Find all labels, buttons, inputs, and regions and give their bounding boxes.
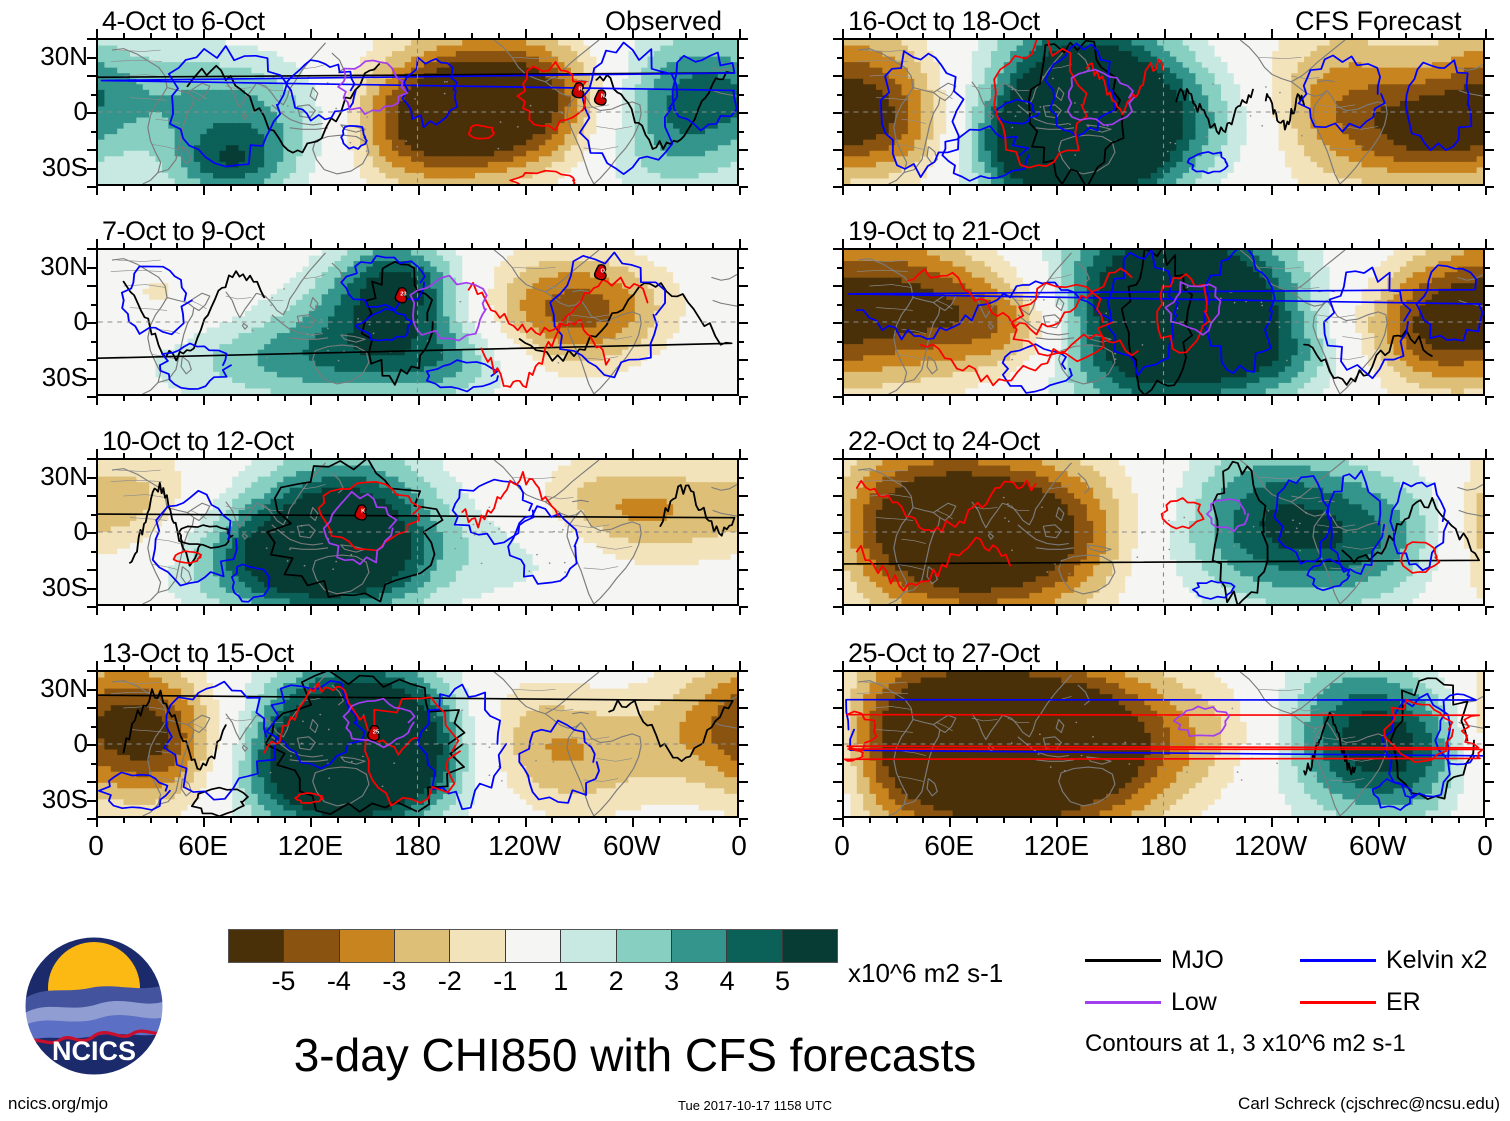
y-axis-tick-minor <box>91 514 96 516</box>
y-axis-label: 0 <box>4 96 88 127</box>
x-axis-tick <box>712 665 714 670</box>
x-axis-tick <box>1003 396 1005 401</box>
x-axis-tick <box>842 661 844 670</box>
x-axis-labels: 060E120E180120W60W0 <box>842 830 1485 864</box>
x-axis-tick <box>685 243 687 248</box>
x-axis-tick <box>949 606 951 615</box>
x-axis-tick <box>842 186 844 195</box>
x-axis-tick <box>123 665 125 670</box>
y-axis-tick-minor <box>1485 186 1494 188</box>
x-axis-tick <box>310 239 312 248</box>
x-axis-label: 60E <box>924 830 974 862</box>
x-axis-tick <box>869 243 871 248</box>
x-axis-tick <box>1217 396 1219 401</box>
map-panel[interactable] <box>842 458 1485 606</box>
x-axis-tick <box>1431 665 1433 670</box>
x-axis-tick <box>551 665 553 670</box>
y-axis-tick-minor <box>739 248 748 250</box>
map-field: K <box>98 460 737 604</box>
x-axis-tick <box>1137 818 1139 823</box>
x-axis-tick <box>150 606 152 611</box>
x-axis-tick <box>659 396 661 401</box>
x-axis-tick <box>1164 186 1166 195</box>
x-axis-tick <box>739 661 741 670</box>
x-axis-tick <box>337 33 339 38</box>
x-axis-tick <box>471 818 473 823</box>
x-axis-tick <box>525 186 527 195</box>
x-axis-tick <box>444 243 446 248</box>
x-axis-tick <box>150 665 152 670</box>
x-axis-tick <box>1110 818 1112 823</box>
x-axis-tick <box>1190 186 1192 191</box>
y-axis-label: 0 <box>4 516 88 547</box>
x-axis-tick <box>605 818 607 823</box>
x-axis-tick <box>310 396 312 405</box>
x-axis-tick <box>869 606 871 611</box>
x-axis-tick <box>976 818 978 823</box>
x-axis-tick <box>976 186 978 191</box>
x-axis-tick <box>551 243 553 248</box>
x-axis-tick <box>896 396 898 401</box>
colorbar-tick-label: 3 <box>664 966 679 997</box>
x-axis-tick <box>471 606 473 611</box>
x-axis-tick <box>1405 396 1407 401</box>
colorbar-tick-label: -2 <box>438 966 462 997</box>
y-axis-tick-minor <box>833 75 842 77</box>
x-axis-tick <box>257 33 259 38</box>
y-axis-tick-minor <box>1485 359 1494 361</box>
x-axis-tick <box>1431 453 1433 458</box>
x-axis-tick <box>1405 186 1407 191</box>
y-axis-label: 30N <box>4 673 88 704</box>
x-axis-tick <box>1030 243 1032 248</box>
x-axis-tick <box>176 243 178 248</box>
x-axis-tick <box>869 33 871 38</box>
x-axis-tick <box>150 453 152 458</box>
y-axis-tick-minor <box>833 248 842 250</box>
x-axis-tick <box>1164 606 1166 615</box>
y-axis-tick-minor <box>833 606 842 608</box>
x-axis-tick <box>230 243 232 248</box>
map-panel[interactable]: RN <box>96 38 739 186</box>
x-axis-label: 60W <box>603 830 661 862</box>
x-axis-tick <box>1056 396 1058 405</box>
y-axis-tick-minor <box>739 112 748 114</box>
x-axis-tick <box>391 243 393 248</box>
x-axis-tick <box>471 396 473 401</box>
map-panel[interactable]: 25 <box>96 670 739 818</box>
x-axis-tick <box>525 661 527 670</box>
x-axis-label: 0 <box>834 830 850 862</box>
y-axis-tick-minor <box>1485 131 1490 133</box>
x-axis-tick <box>976 606 978 611</box>
y-axis-tick-minor <box>739 267 744 269</box>
y-axis-tick-minor <box>837 267 842 269</box>
x-axis-tick <box>123 33 125 38</box>
y-axis-label: 30N <box>4 41 88 72</box>
x-axis-tick <box>96 449 98 458</box>
x-axis-tick <box>1297 818 1299 823</box>
x-axis-tick <box>498 606 500 611</box>
x-axis-tick <box>869 186 871 191</box>
x-axis-tick <box>1485 449 1487 458</box>
y-axis-tick-minor <box>1485 606 1494 608</box>
y-axis-tick-minor <box>87 569 96 571</box>
map-panel[interactable] <box>842 38 1485 186</box>
x-axis-tick <box>418 449 420 458</box>
y-axis-tick-minor <box>833 322 842 324</box>
y-axis-tick-minor <box>1485 378 1490 380</box>
x-axis-labels: 060E120E180120W60W0 <box>96 830 739 864</box>
y-axis-tick-minor <box>1485 94 1490 96</box>
y-axis-tick-minor <box>1485 670 1494 672</box>
y-axis-tick-minor <box>837 168 842 170</box>
x-axis-tick <box>976 33 978 38</box>
x-axis-tick <box>418 186 420 195</box>
legend-item-low: Low <box>1085 988 1217 1017</box>
legend-line-swatch <box>1300 959 1376 962</box>
x-axis-tick <box>1217 453 1219 458</box>
x-axis-tick <box>659 453 661 458</box>
x-axis-tick <box>896 453 898 458</box>
x-axis-tick <box>739 449 741 458</box>
x-axis-tick <box>150 818 152 823</box>
x-axis-tick <box>284 243 286 248</box>
x-axis-tick <box>310 818 312 827</box>
y-axis-tick-minor <box>739 588 744 590</box>
x-axis-tick <box>842 449 844 458</box>
x-axis-tick <box>1405 33 1407 38</box>
x-axis-tick <box>310 29 312 38</box>
x-axis-tick <box>444 396 446 401</box>
x-axis-label: 0 <box>88 830 104 862</box>
y-axis-tick-minor <box>739 186 748 188</box>
map-panel[interactable]: 23O <box>96 248 739 396</box>
y-axis-tick-minor <box>91 304 96 306</box>
x-axis-tick <box>632 186 634 195</box>
y-axis-tick-minor <box>739 57 744 59</box>
y-axis-tick-minor <box>91 551 96 553</box>
x-axis-tick <box>1458 33 1460 38</box>
colorbar-swatch <box>617 930 672 962</box>
x-axis-tick <box>337 453 339 458</box>
x-axis-tick <box>1485 239 1487 248</box>
colorbar-tick-label: 4 <box>720 966 735 997</box>
x-axis-tick <box>96 396 98 405</box>
x-axis-tick <box>659 818 661 823</box>
x-axis-tick <box>284 818 286 823</box>
y-axis-tick-minor <box>1485 514 1490 516</box>
y-axis-tick-minor <box>739 168 744 170</box>
x-axis-tick <box>685 606 687 611</box>
x-axis-tick <box>949 449 951 458</box>
x-axis-tick <box>1351 453 1353 458</box>
colorbar-tick-label: -3 <box>382 966 406 997</box>
y-axis-tick-minor <box>1485 689 1490 691</box>
x-axis-tick <box>203 818 205 827</box>
contour-note: Contours at 1, 3 x10^6 m2 s-1 <box>1085 1030 1406 1058</box>
x-axis-tick <box>123 243 125 248</box>
y-axis-tick-minor <box>87 495 96 497</box>
x-axis-tick <box>1056 186 1058 195</box>
x-axis-tick <box>391 33 393 38</box>
y-axis-tick-minor <box>1485 726 1490 728</box>
y-axis-tick-minor <box>739 800 744 802</box>
x-axis-tick <box>1431 606 1433 611</box>
y-axis-tick-minor <box>739 689 744 691</box>
x-axis-tick <box>949 29 951 38</box>
x-axis-tick <box>922 606 924 611</box>
x-axis-tick <box>444 606 446 611</box>
y-axis-tick-minor <box>91 800 96 802</box>
y-axis-tick-minor <box>1485 322 1494 324</box>
x-axis-tick <box>1458 818 1460 823</box>
x-axis-tick <box>1378 661 1380 670</box>
colorbar-tick-label: -5 <box>271 966 295 997</box>
x-axis-tick <box>1378 239 1380 248</box>
x-axis-tick <box>230 453 232 458</box>
x-axis-tick <box>1003 606 1005 611</box>
site-url: ncics.org/mjo <box>8 1094 108 1114</box>
x-axis-tick <box>418 396 420 405</box>
x-axis-tick <box>739 29 741 38</box>
x-axis-tick <box>842 606 844 615</box>
x-axis-tick <box>1164 396 1166 405</box>
x-axis-tick <box>1217 606 1219 611</box>
column-header: Observed <box>605 6 722 37</box>
y-axis-tick-minor <box>1485 285 1494 287</box>
x-axis-tick <box>203 29 205 38</box>
y-axis-tick-minor <box>837 94 842 96</box>
x-axis-tick <box>712 818 714 823</box>
x-axis-tick <box>176 453 178 458</box>
x-axis-tick <box>1244 665 1246 670</box>
y-axis-tick-minor <box>739 75 748 77</box>
x-axis-tick <box>391 186 393 191</box>
x-axis-tick <box>1003 33 1005 38</box>
y-axis-tick-minor <box>87 396 96 398</box>
x-axis-tick <box>922 243 924 248</box>
panel-title: 25-Oct to 27-Oct <box>848 638 1040 669</box>
x-axis-tick <box>1217 243 1219 248</box>
x-axis-tick <box>1297 396 1299 401</box>
map-field: 25 <box>98 672 737 816</box>
y-axis-tick-minor <box>833 149 842 151</box>
map-field <box>844 672 1483 816</box>
x-axis-tick <box>1351 396 1353 401</box>
x-axis-tick <box>578 453 580 458</box>
y-axis-tick-minor <box>833 495 842 497</box>
legend-label: Low <box>1171 988 1217 1017</box>
x-axis-tick <box>1351 186 1353 191</box>
x-axis-tick <box>1190 396 1192 401</box>
y-axis-tick-minor <box>91 763 96 765</box>
x-axis-tick <box>739 239 741 248</box>
x-axis-tick <box>444 33 446 38</box>
x-axis-tick <box>525 239 527 248</box>
x-axis-tick <box>337 186 339 191</box>
x-axis-tick <box>1003 186 1005 191</box>
x-axis-tick <box>1137 606 1139 611</box>
x-axis-tick <box>632 239 634 248</box>
x-axis-tick <box>525 606 527 615</box>
y-axis-tick-minor <box>833 396 842 398</box>
x-axis-tick <box>605 665 607 670</box>
x-axis-tick <box>1485 661 1487 670</box>
x-axis-tick <box>230 665 232 670</box>
x-axis-tick <box>310 449 312 458</box>
x-axis-tick <box>1190 33 1192 38</box>
x-axis-tick <box>1083 818 1085 823</box>
x-axis-tick <box>659 665 661 670</box>
x-axis-tick <box>712 606 714 611</box>
x-axis-tick <box>1083 243 1085 248</box>
x-axis-tick <box>869 818 871 823</box>
x-axis-tick <box>364 396 366 401</box>
y-axis-tick-minor <box>1485 532 1494 534</box>
panel-title: 10-Oct to 12-Oct <box>102 426 294 457</box>
x-axis-tick <box>1244 186 1246 191</box>
y-axis-tick-minor <box>87 670 96 672</box>
legend-label: MJO <box>1171 946 1224 975</box>
x-axis-tick <box>1190 243 1192 248</box>
x-axis-tick <box>949 396 951 405</box>
x-axis-tick <box>176 186 178 191</box>
x-axis-tick <box>685 665 687 670</box>
svg-text:N: N <box>601 94 605 100</box>
x-axis-tick <box>1458 665 1460 670</box>
x-axis-tick <box>96 29 98 38</box>
x-axis-tick <box>391 453 393 458</box>
y-axis-tick-minor <box>1485 477 1490 479</box>
x-axis-tick <box>284 186 286 191</box>
x-axis-tick <box>551 396 553 401</box>
x-axis-tick <box>1324 606 1326 611</box>
x-axis-tick <box>284 606 286 611</box>
x-axis-tick <box>605 396 607 401</box>
x-axis-tick <box>203 186 205 195</box>
y-axis-label: 30N <box>4 461 88 492</box>
map-panel[interactable] <box>842 670 1485 818</box>
x-axis-tick <box>364 818 366 823</box>
x-axis-tick <box>230 33 232 38</box>
x-axis-tick <box>230 396 232 401</box>
x-axis-tick <box>1137 665 1139 670</box>
colorbar-units: x10^6 m2 s-1 <box>848 958 1003 989</box>
y-axis-tick-minor <box>833 744 842 746</box>
colorbar-tick-label: -4 <box>327 966 351 997</box>
x-axis-tick <box>1351 606 1353 611</box>
x-axis-tick <box>498 453 500 458</box>
y-axis-tick-minor <box>739 763 744 765</box>
x-axis-tick <box>949 186 951 195</box>
y-axis-tick-minor <box>87 112 96 114</box>
y-axis-tick-minor <box>837 588 842 590</box>
map-panel[interactable] <box>842 248 1485 396</box>
x-axis-tick <box>1030 396 1032 401</box>
x-axis-tick <box>1351 818 1353 823</box>
y-axis-tick-minor <box>87 186 96 188</box>
y-axis-tick-minor <box>739 477 744 479</box>
x-axis-tick <box>257 665 259 670</box>
x-axis-tick <box>257 453 259 458</box>
x-axis-tick <box>337 396 339 401</box>
ncics-logo: NCICS <box>20 932 168 1080</box>
legend-item-er: ER <box>1300 988 1421 1017</box>
y-axis-label: 30S <box>4 152 88 183</box>
y-axis-tick-minor <box>837 341 842 343</box>
x-axis-tick <box>1083 453 1085 458</box>
y-axis-tick-minor <box>1485 396 1494 398</box>
x-axis-tick <box>1217 186 1219 191</box>
x-axis-tick <box>1324 665 1326 670</box>
x-axis-tick <box>1164 239 1166 248</box>
x-axis-tick <box>842 818 844 827</box>
x-axis-tick <box>1083 396 1085 401</box>
x-axis-tick <box>1030 453 1032 458</box>
x-axis-tick <box>685 33 687 38</box>
colorbar-ticks: -5-4-3-2-112345 <box>228 966 838 1000</box>
y-axis-tick-minor <box>833 781 842 783</box>
map-field: 23O <box>98 250 737 394</box>
figure-title: 3-day CHI850 with CFS forecasts <box>205 1028 1065 1082</box>
x-axis-tick <box>896 606 898 611</box>
x-axis-tick <box>1458 606 1460 611</box>
x-axis-tick <box>498 186 500 191</box>
legend-label: ER <box>1386 988 1421 1017</box>
x-axis-tick <box>96 186 98 195</box>
x-axis-tick <box>1297 243 1299 248</box>
x-axis-tick <box>1164 29 1166 38</box>
x-axis-tick <box>896 243 898 248</box>
y-axis-tick-minor <box>87 781 96 783</box>
y-axis-tick-minor <box>833 818 842 820</box>
colorbar-tick-label: 2 <box>609 966 624 997</box>
x-axis-tick <box>444 818 446 823</box>
y-axis-tick-minor <box>837 726 842 728</box>
x-axis-tick <box>1030 186 1032 191</box>
colorbar-swatch <box>395 930 450 962</box>
x-axis-tick <box>391 396 393 401</box>
y-axis-tick-minor <box>87 359 96 361</box>
map-panel[interactable]: K <box>96 458 739 606</box>
y-axis-tick-minor <box>837 514 842 516</box>
x-axis-tick <box>364 243 366 248</box>
x-axis-tick <box>471 243 473 248</box>
y-axis-tick-minor <box>833 359 842 361</box>
x-axis-tick <box>1458 243 1460 248</box>
x-axis-tick <box>1297 606 1299 611</box>
x-axis-tick <box>257 606 259 611</box>
y-axis-label: 0 <box>4 728 88 759</box>
y-axis-tick-minor <box>739 38 748 40</box>
x-axis-tick <box>632 606 634 615</box>
x-axis-label: 0 <box>1477 830 1493 862</box>
x-axis-tick <box>712 453 714 458</box>
x-axis-tick <box>976 396 978 401</box>
x-axis-tick <box>257 186 259 191</box>
x-axis-tick <box>1351 33 1353 38</box>
x-axis-tick <box>1056 606 1058 615</box>
y-axis-tick-minor <box>1485 551 1490 553</box>
y-axis-tick-minor <box>91 131 96 133</box>
x-axis-tick <box>310 186 312 195</box>
y-axis-label: 30S <box>4 362 88 393</box>
y-axis-tick-minor <box>1485 744 1494 746</box>
x-axis-tick <box>203 606 205 615</box>
x-axis-tick <box>1030 818 1032 823</box>
y-axis-tick-minor <box>833 186 842 188</box>
